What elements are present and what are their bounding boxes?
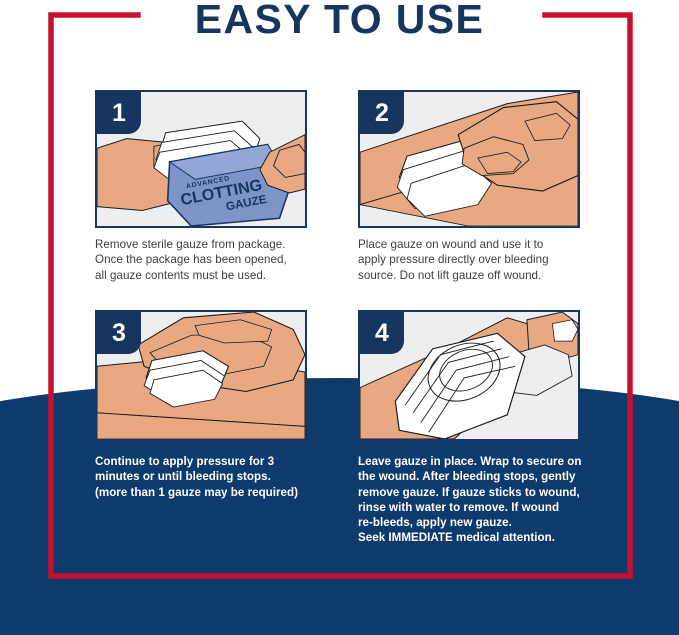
step-2-caption: Place gauze on wound and use it to apply… bbox=[358, 237, 580, 283]
page-title: EASY TO USE bbox=[0, 0, 679, 43]
step-panel-1: ADVANCED CLOTTING GAUZE 1 Remove sterile… bbox=[95, 90, 307, 283]
caption-line: Place gauze on wound and use it to bbox=[358, 237, 580, 252]
caption-line: minutes or until bleeding stops. bbox=[95, 469, 307, 484]
step-1-caption: Remove sterile gauze from package. Once … bbox=[95, 237, 307, 283]
caption-line: Seek IMMEDIATE medical attention. bbox=[358, 530, 580, 545]
caption-line: (more than 1 gauze may be required) bbox=[95, 485, 307, 500]
caption-line: Remove sterile gauze from package. bbox=[95, 237, 307, 252]
caption-line: re-bleeds, apply new gauze. bbox=[358, 515, 580, 530]
caption-line: the wound. After bleeding stops, gently bbox=[358, 469, 580, 484]
step-panel-2: 2 Place gauze on wound and use it to app… bbox=[358, 90, 580, 283]
step-1-illustration: ADVANCED CLOTTING GAUZE 1 bbox=[95, 90, 307, 228]
caption-line: Continue to apply pressure for 3 bbox=[95, 454, 307, 469]
step-4-caption: Leave gauze in place. Wrap to secure on … bbox=[358, 454, 580, 546]
step-1-badge: 1 bbox=[97, 92, 141, 134]
step-panel-3: 3 Continue to apply pressure for 3 minut… bbox=[95, 310, 307, 500]
step-2-illustration: 2 bbox=[358, 90, 580, 228]
step-panel-4: 4 Leave gauze in place. Wrap to secure o… bbox=[358, 310, 580, 546]
caption-line: Once the package has been opened, bbox=[95, 252, 307, 267]
step-3-illustration: 3 bbox=[95, 310, 307, 441]
step-3-caption: Continue to apply pressure for 3 minutes… bbox=[95, 454, 307, 500]
step-3-badge: 3 bbox=[97, 312, 141, 354]
caption-line: Leave gauze in place. Wrap to secure on bbox=[358, 454, 580, 469]
step-4-illustration: 4 bbox=[358, 310, 580, 441]
caption-line: all gauze contents must be used. bbox=[95, 268, 307, 283]
step-4-badge: 4 bbox=[360, 312, 404, 354]
caption-line: source. Do not lift gauze off wound. bbox=[358, 268, 580, 283]
caption-line: apply pressure directly over bleeding bbox=[358, 252, 580, 267]
infographic-easy-to-use: EASY TO USE ADVANCED CLOTTING GAUZE bbox=[0, 0, 679, 635]
caption-line: remove gauze. If gauze sticks to wound, bbox=[358, 485, 580, 500]
step-2-badge: 2 bbox=[360, 92, 404, 134]
caption-line: rinse with water to remove. If wound bbox=[358, 500, 580, 515]
